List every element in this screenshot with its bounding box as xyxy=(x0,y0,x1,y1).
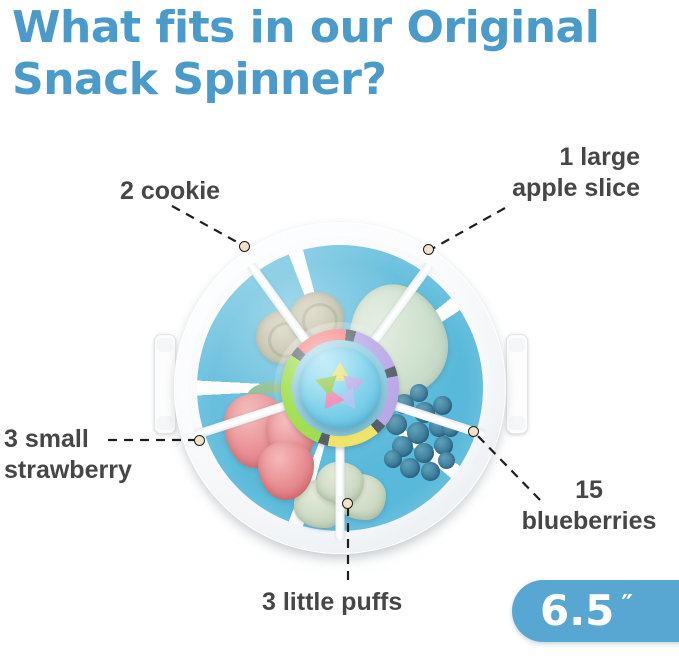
snack-spinner-container xyxy=(150,200,530,580)
size-badge-value: 6.5 xyxy=(540,590,614,632)
callout-label-cookie: 2 cookie xyxy=(120,176,220,207)
callout-dot-apple xyxy=(423,244,434,255)
callout-dot-blueberries xyxy=(468,426,479,437)
spinner-hub[interactable] xyxy=(281,329,399,447)
infographic-canvas: What fits in our Original Snack Spinner? xyxy=(0,0,679,661)
page-title: What fits in our Original Snack Spinner? xyxy=(12,2,672,106)
callout-label-strawberry: 3 small strawberry xyxy=(4,424,132,486)
callout-label-blueberries: 15 blueberries xyxy=(500,475,678,537)
callout-dot-strawberry xyxy=(194,435,205,446)
latch-left-icon xyxy=(154,334,176,434)
callout-label-puffs: 3 little puffs xyxy=(262,587,402,618)
callout-label-apple: 1 large apple slice xyxy=(400,142,640,204)
spinner-knob[interactable] xyxy=(299,347,381,429)
callout-dot-cookie xyxy=(239,241,250,252)
size-badge: 6.5 ″ xyxy=(512,580,679,642)
callout-dot-puffs xyxy=(342,498,353,509)
container-body xyxy=(188,236,492,540)
size-badge-unit: ″ xyxy=(621,592,633,618)
latch-right-icon xyxy=(506,334,528,434)
